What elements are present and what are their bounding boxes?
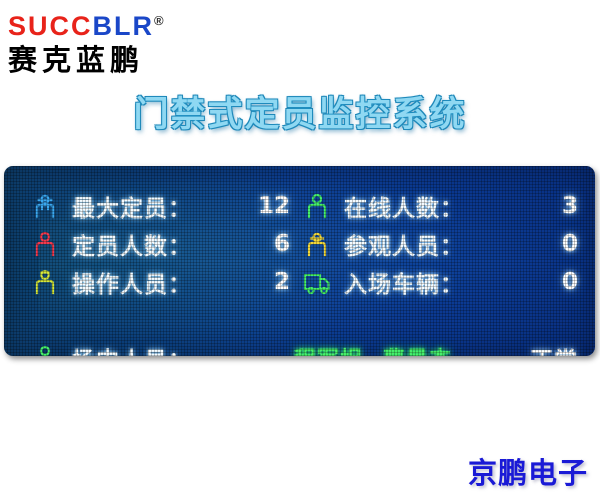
led-label-online-count: 在线人数： xyxy=(332,189,538,223)
brand-logo: SUCCBLR® 赛克蓝鹏 xyxy=(8,6,208,76)
page-title: 门禁式定员监控系统 xyxy=(0,86,600,137)
brand-chinese-name: 赛克蓝鹏 xyxy=(8,42,208,78)
led-label-operators: 操作人员： xyxy=(60,265,250,299)
led-row-onsite-personnel: 场内人员： 程军坦曹景杰 正常 xyxy=(30,340,586,356)
person-online-icon xyxy=(302,191,332,221)
led-value-assigned-count: 6 xyxy=(250,231,298,257)
led-value-max-capacity: 12 xyxy=(250,193,298,219)
led-onsite-name-1: 程军坦 xyxy=(294,348,363,356)
led-status-badge: 正常 xyxy=(530,341,586,356)
led-row-online-count: 在线人数： 3 xyxy=(302,188,586,224)
led-label-visitors: 参观人员： xyxy=(332,227,538,261)
led-right-column: 在线人数： 3 参观人员： 0 xyxy=(302,188,586,302)
person-onsite-icon xyxy=(30,343,60,356)
brand-blr-text: BLR xyxy=(93,11,155,41)
led-value-vehicles: 0 xyxy=(538,269,586,295)
led-display-panel: 最大定员： 12 定员人数： 6 xyxy=(4,166,595,356)
led-label-onsite-personnel: 场内人员： xyxy=(60,341,192,356)
led-onsite-name-list: 程军坦曹景杰 xyxy=(192,342,530,356)
led-row-operators: 操作人员： 2 xyxy=(30,264,298,300)
led-row-vehicles: 入场车辆： 0 xyxy=(302,264,586,300)
led-row-assigned-count: 定员人数： 6 xyxy=(30,226,298,262)
led-row-max-capacity: 最大定员： 12 xyxy=(30,188,298,224)
person-with-cap-icon xyxy=(30,191,60,221)
truck-icon xyxy=(302,267,332,297)
person-visitor-icon xyxy=(302,229,332,259)
led-value-online-count: 3 xyxy=(538,193,586,219)
led-onsite-name-2: 曹景杰 xyxy=(383,348,452,356)
footer-company-name: 京鹏电子 xyxy=(468,450,588,492)
person-operator-icon xyxy=(30,267,60,297)
led-label-assigned-count: 定员人数： xyxy=(60,227,250,261)
brand-latin-wordmark: SUCCBLR® xyxy=(8,6,208,41)
led-value-visitors: 0 xyxy=(538,231,586,257)
led-value-operators: 2 xyxy=(250,269,298,295)
led-row-visitors: 参观人员： 0 xyxy=(302,226,586,262)
person-icon xyxy=(30,229,60,259)
brand-succ-text: SUCC xyxy=(8,11,93,41)
led-label-vehicles: 入场车辆： xyxy=(332,265,538,299)
registered-trademark-icon: ® xyxy=(154,13,164,28)
led-label-max-capacity: 最大定员： xyxy=(60,189,250,223)
led-left-column: 最大定员： 12 定员人数： 6 xyxy=(30,188,298,302)
